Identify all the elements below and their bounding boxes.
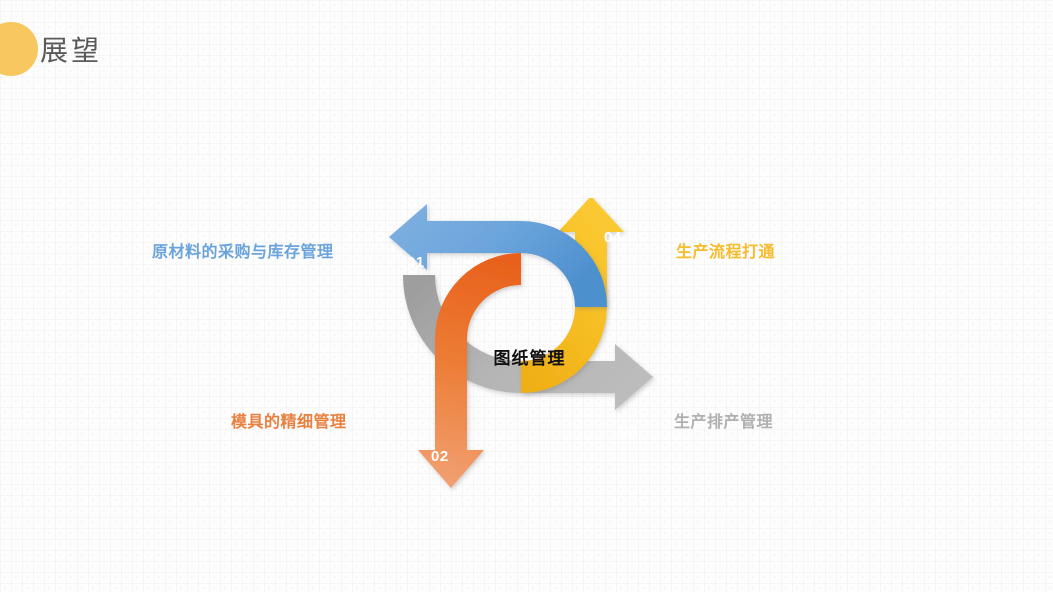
page-title: 展望 — [40, 38, 102, 66]
segment-caption-01: 原材料的采购与库存管理 — [152, 238, 334, 262]
segment-caption-04: 生产流程打通 — [676, 238, 775, 262]
diagram-center-label: 图纸管理 — [482, 344, 577, 369]
slide-canvas: 展望 — [0, 0, 1053, 592]
title-accent-dot — [0, 22, 38, 76]
segment-caption-02: 模具的精细管理 — [231, 408, 347, 432]
segment-caption-03: 生产排产管理 — [674, 408, 773, 432]
